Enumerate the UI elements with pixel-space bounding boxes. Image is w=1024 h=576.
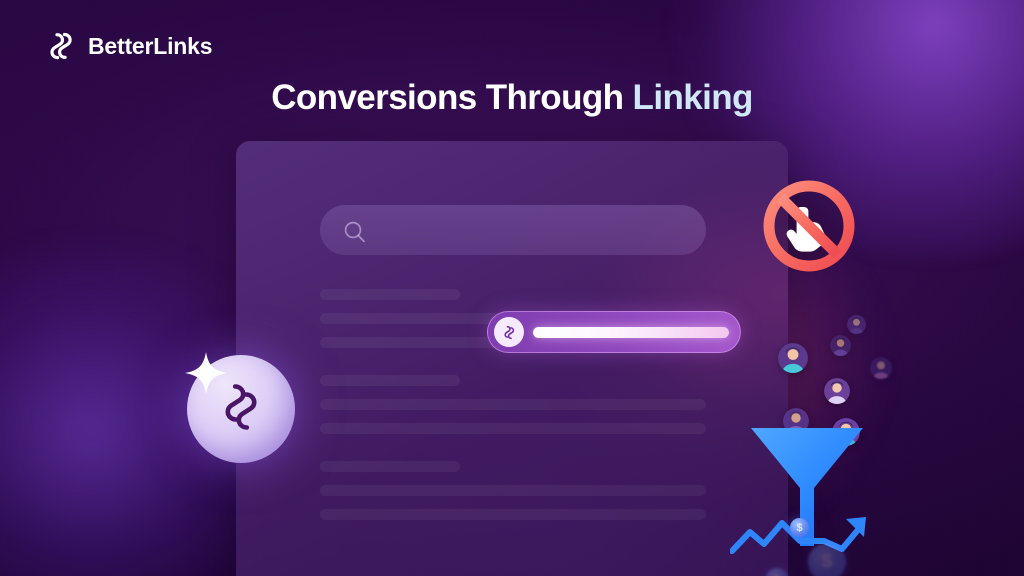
brand-name: BetterLinks: [88, 35, 212, 58]
coin-badge: $: [790, 518, 809, 537]
conversion-funnel-group: $ $ $: [736, 330, 916, 576]
link-feature-badge: [187, 355, 295, 463]
skeleton-row: [320, 423, 706, 434]
coin-symbol: $: [796, 522, 802, 534]
dashboard-card: [236, 141, 788, 576]
page-title-accent: Linking: [623, 78, 752, 117]
chain-link-logo-icon: [44, 28, 78, 64]
brand-logo[interactable]: BetterLinks: [44, 28, 212, 64]
avatar: [870, 357, 892, 379]
skeleton-row: [320, 461, 460, 472]
page-title-primary: Conversions Through: [271, 78, 623, 117]
link-url-input[interactable]: [487, 311, 741, 353]
skeleton-row: [320, 289, 460, 300]
link-icon: [494, 317, 524, 347]
skeleton-row: [320, 509, 706, 520]
skeleton-row: [320, 485, 706, 496]
coin-symbol: $: [774, 572, 781, 576]
link-url-value: [533, 327, 729, 338]
search-input[interactable]: [320, 205, 706, 255]
avatar: [824, 378, 850, 404]
no-click-prohibition-icon: [756, 173, 862, 279]
avatar: [830, 335, 851, 356]
sparkle-icon: [180, 347, 232, 399]
skeleton-row: [320, 375, 460, 386]
page-title: Conversions Through Linking: [0, 78, 1024, 118]
avatar: [778, 343, 808, 373]
skeleton-row: [320, 399, 706, 410]
coin-badge: $: [808, 543, 846, 576]
illustration-canvas: BetterLinks Conversions Through Linking: [0, 0, 1024, 576]
coin-symbol: $: [822, 551, 833, 573]
avatar: [847, 315, 866, 334]
